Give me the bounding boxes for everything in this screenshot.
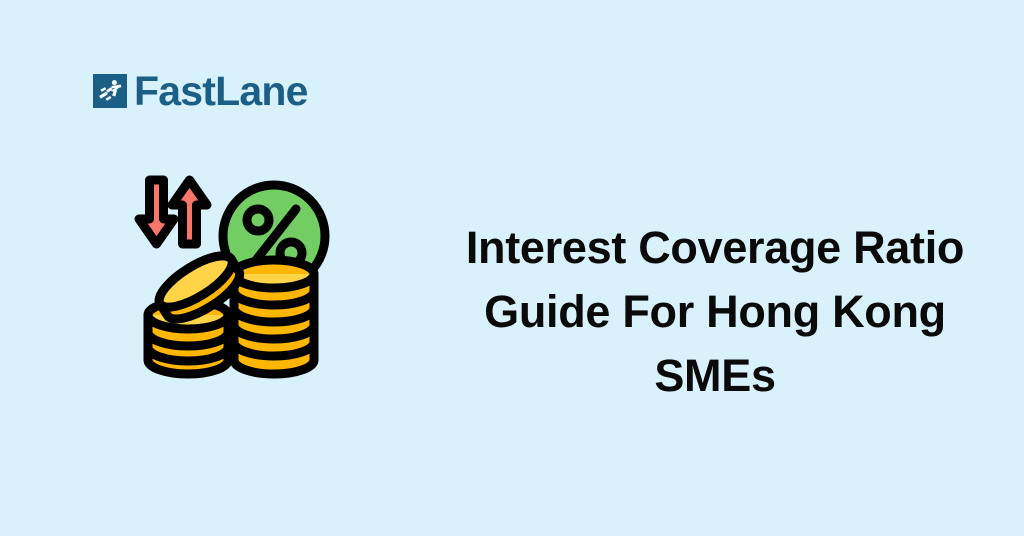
brand-logo[interactable]: FastLane (93, 70, 308, 111)
brand-wordmark: FastLane (134, 71, 308, 112)
article-hero-banner: FastLane (0, 0, 1024, 536)
page-title: Interest Coverage Ratio Guide For Hong K… (432, 216, 998, 408)
coins-percentage-illustration (126, 168, 342, 384)
running-person-icon (93, 74, 127, 108)
